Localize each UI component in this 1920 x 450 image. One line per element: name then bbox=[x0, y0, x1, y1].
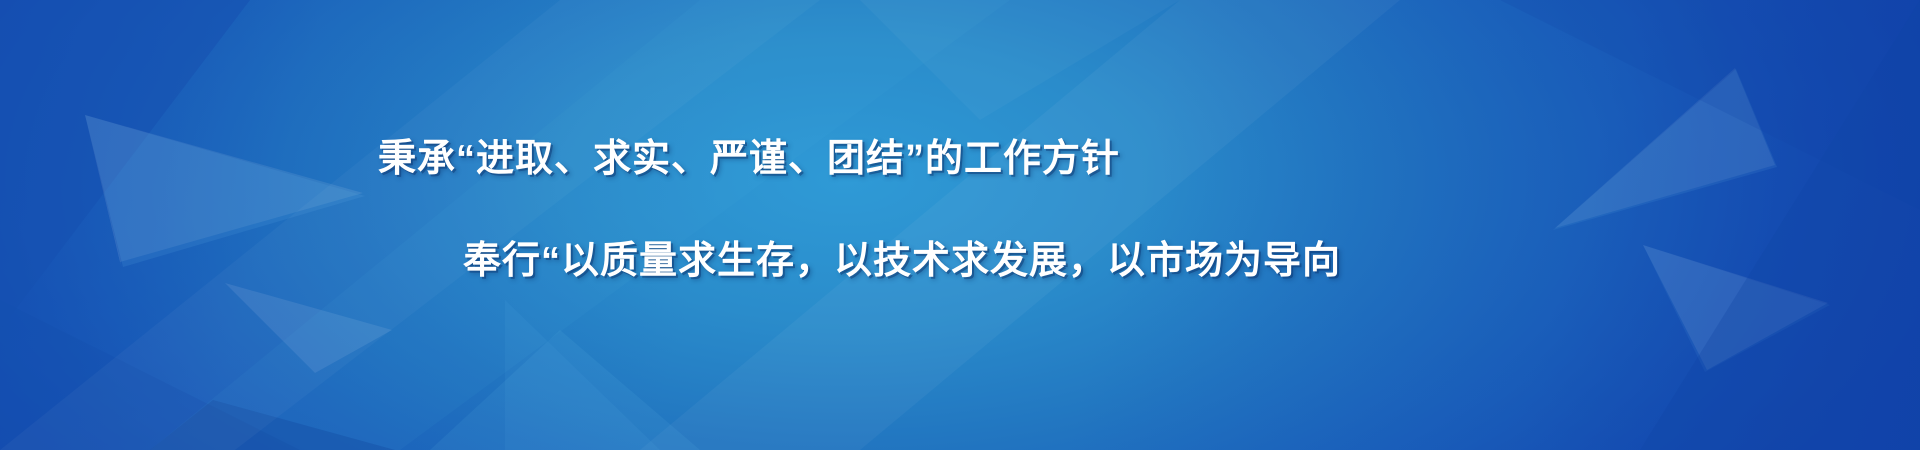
headline-line-1: 秉承“进取、求实、严谨、团结”的工作方针 bbox=[378, 140, 1120, 178]
headline-group: 秉承“进取、求实、严谨、团结”的工作方针 奉行“以质量求生存，以技术求发展，以市… bbox=[0, 0, 1920, 450]
promo-banner: 秉承“进取、求实、严谨、团结”的工作方针 奉行“以质量求生存，以技术求发展，以市… bbox=[0, 0, 1920, 450]
headline-line-2: 奉行“以质量求生存，以技术求发展，以市场为导向 bbox=[463, 242, 1341, 280]
